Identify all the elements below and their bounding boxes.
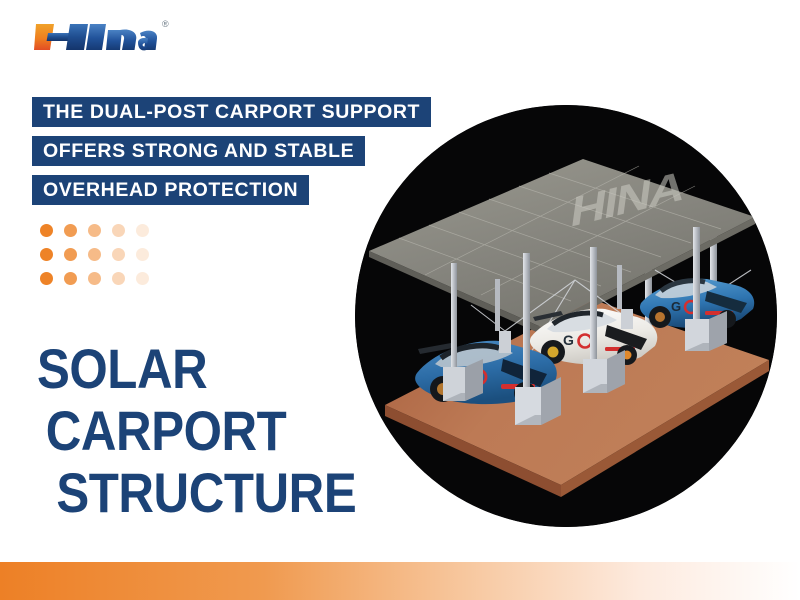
dot	[136, 248, 149, 261]
title-line-2: CARPORT	[0, 400, 317, 462]
dot	[40, 272, 53, 285]
dot	[88, 272, 101, 285]
decorative-dot-grid	[40, 224, 160, 296]
dot	[112, 224, 125, 237]
svg-text:G: G	[671, 299, 681, 314]
bottom-accent-bar	[0, 562, 800, 600]
headline-line-1: THE DUAL-POST CARPORT SUPPORT	[32, 97, 431, 127]
dot	[112, 272, 125, 285]
dot	[88, 248, 101, 261]
dot	[88, 224, 101, 237]
dot	[136, 224, 149, 237]
brand-logo: ®	[34, 16, 169, 56]
title-line-3: STRUCTURE	[0, 462, 317, 524]
title-line-1: SOLAR	[0, 338, 317, 400]
dot	[64, 224, 77, 237]
headline-group: THE DUAL-POST CARPORT SUPPORT OFFERS STR…	[32, 97, 431, 205]
registered-trademark-icon: ®	[162, 20, 169, 29]
svg-text:G: G	[563, 332, 574, 348]
dot	[112, 248, 125, 261]
page-title: SOLAR CARPORT STRUCTURE	[0, 338, 360, 524]
headline-line-2: OFFERS STRONG AND STABLE	[32, 136, 365, 166]
dot	[64, 272, 77, 285]
hina-logo-icon	[34, 16, 160, 61]
poster-canvas: ® THE DUAL-POST CARPORT SUPPORT OFFERS S…	[0, 0, 800, 600]
dot	[40, 224, 53, 237]
headline-line-3: OVERHEAD PROTECTION	[32, 175, 309, 205]
product-photo-circle: HINA	[355, 105, 777, 527]
dot	[64, 248, 77, 261]
dot	[40, 248, 53, 261]
dot	[136, 272, 149, 285]
